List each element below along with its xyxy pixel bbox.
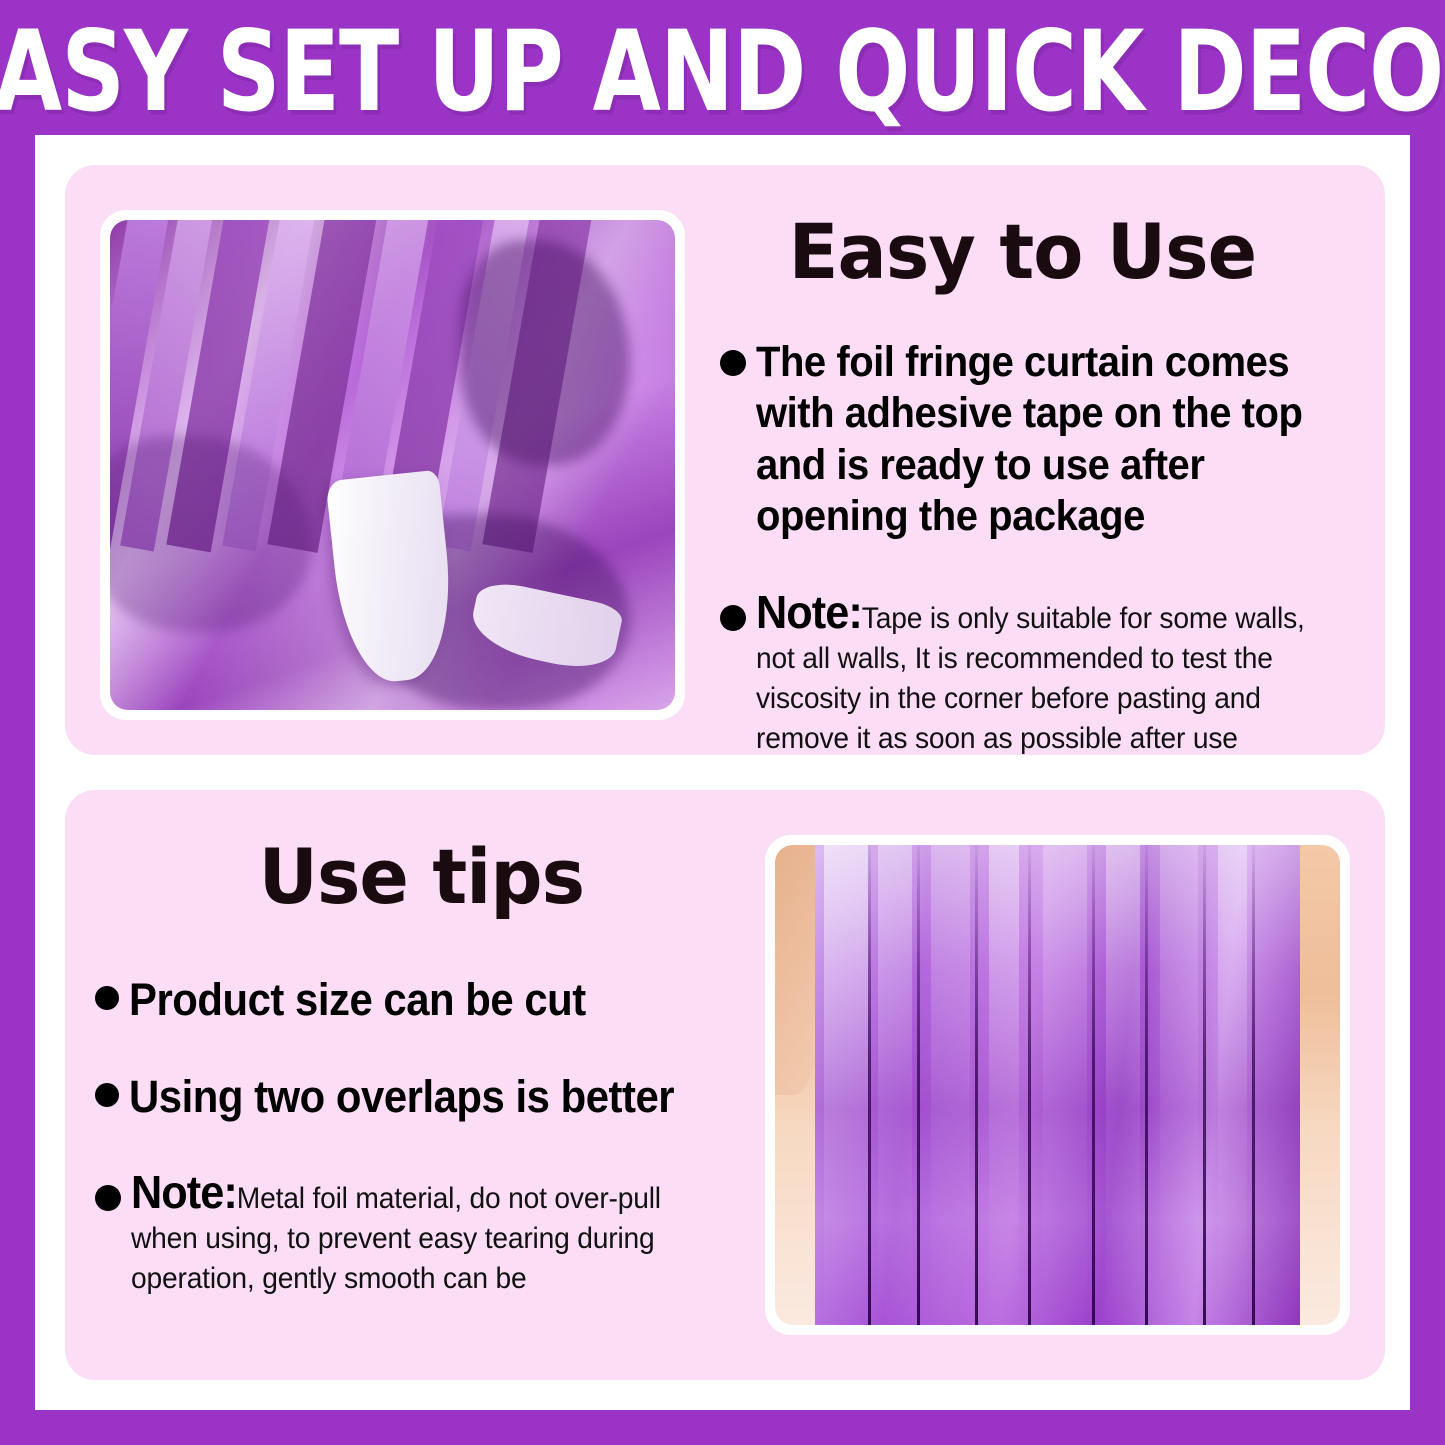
note-use-tips: Note:Metal foil material, do not over-pu… [95, 1169, 755, 1299]
header-banner: EASY SET UP AND QUICK DECOR [0, 0, 1445, 135]
foil-curtain [815, 845, 1301, 1325]
note-body: Note:Tape is only suitable for some wall… [756, 589, 1343, 759]
bullet-text: Using two overlaps is better [129, 1071, 711, 1123]
note-label: Note: [131, 1166, 237, 1218]
note-body: Note:Metal foil material, do not over-pu… [131, 1169, 718, 1299]
bullet-text: Product size can be cut [129, 974, 711, 1026]
bullet-item: The foil fringe curtain comes with adhes… [720, 337, 1380, 543]
bullet-item: Product size can be cut [95, 974, 755, 1026]
heading-use-tips: Use tips [95, 838, 729, 916]
note-easy-to-use: Note:Tape is only suitable for some wall… [720, 589, 1380, 759]
hand-holding-foil-fringe-image [775, 845, 1340, 1325]
content-panel: Easy to Use The foil fringe curtain come… [35, 135, 1410, 1410]
note-label: Note: [756, 586, 862, 638]
bullet-dot-icon [95, 1083, 119, 1107]
card-easy-to-use: Easy to Use The foil fringe curtain come… [65, 165, 1385, 755]
header-title: EASY SET UP AND QUICK DECOR [0, 8, 1445, 126]
photo-frame-easy-to-use [100, 210, 685, 720]
bullet-item: Using two overlaps is better [95, 1071, 755, 1123]
text-block-easy-to-use: Easy to Use The foil fringe curtain come… [720, 213, 1380, 758]
bullet-dot-icon [95, 986, 119, 1010]
bullet-dot-icon [720, 605, 746, 631]
infographic-root: EASY SET UP AND QUICK DECOR [0, 0, 1445, 1445]
text-block-use-tips: Use tips Product size can be cut Using t… [95, 838, 755, 1299]
heading-easy-to-use: Easy to Use [720, 213, 1354, 291]
foil-fringe-adhesive-tape-closeup-image [110, 220, 675, 710]
bullet-dot-icon [720, 350, 746, 376]
card-use-tips: Use tips Product size can be cut Using t… [65, 790, 1385, 1380]
bullet-dot-icon [95, 1185, 121, 1211]
bullet-text: The foil fringe curtain comes with adhes… [756, 337, 1336, 543]
photo-frame-use-tips [765, 835, 1350, 1335]
